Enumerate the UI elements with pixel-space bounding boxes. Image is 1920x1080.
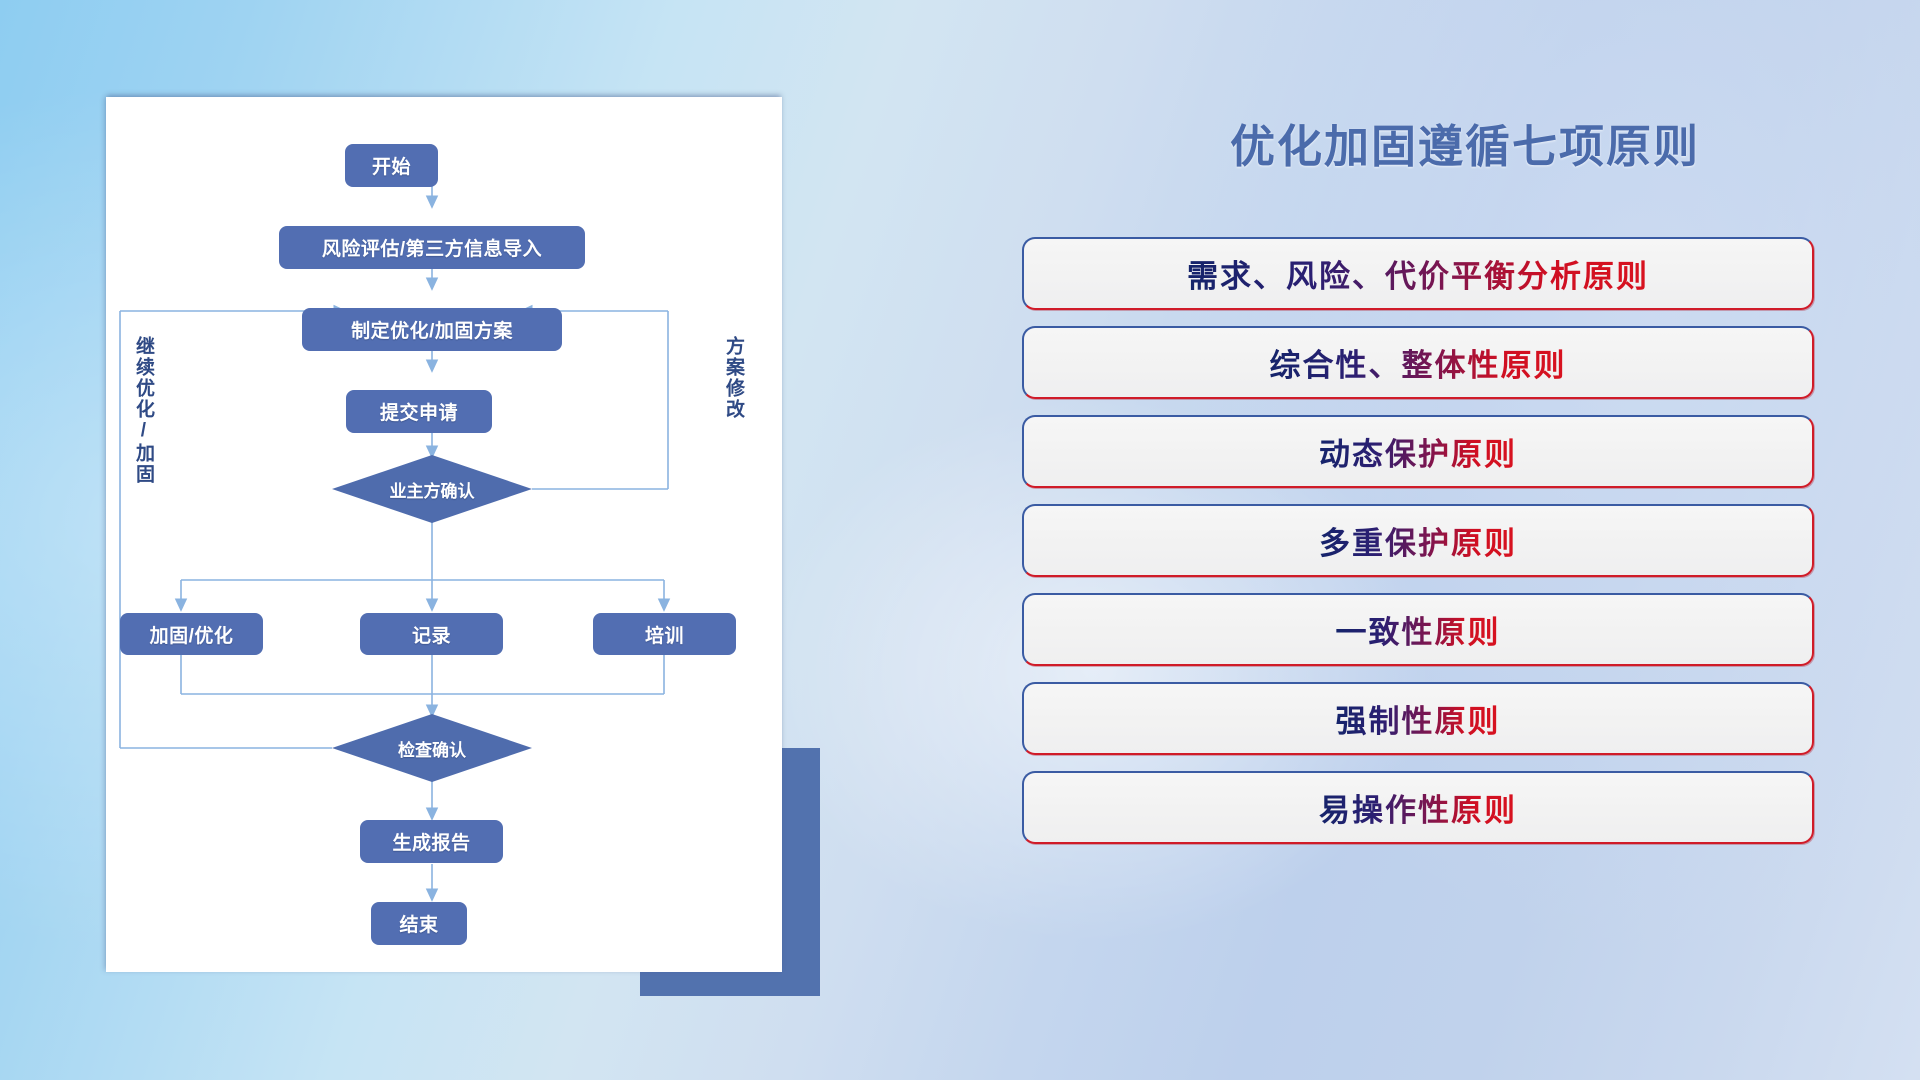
flow-node-label: 开始	[372, 152, 411, 179]
edge-label-continue-optimization: 继续优化/加固	[133, 336, 153, 506]
flow-node-label: 制定优化/加固方案	[351, 316, 513, 343]
flow-node-plan[interactable]: 制定优化/加固方案	[302, 308, 562, 351]
principle-label: 多重保护原则	[1319, 518, 1517, 563]
principle-item[interactable]: 一致性原则	[1022, 593, 1814, 666]
principle-label: 一致性原则	[1336, 607, 1501, 652]
principle-label: 需求、风险、代价平衡分析原则	[1187, 251, 1649, 296]
principle-label: 易操作性原则	[1319, 785, 1517, 830]
principles-panel: 优化加固遵循七项原则 需求、风险、代价平衡分析原则 综合性、整体性原则 动态保护…	[1010, 0, 1920, 1080]
flow-node-generate-report[interactable]: 生成报告	[360, 820, 503, 863]
flowchart-canvas: 开始 风险评估/第三方信息导入 制定优化/加固方案 提交申请 业主方确认 加固/…	[106, 97, 782, 972]
principle-label: 综合性、整体性原则	[1270, 340, 1567, 385]
flow-node-label: 培训	[645, 621, 684, 648]
flow-node-submit-application[interactable]: 提交申请	[346, 390, 492, 433]
flow-node-end[interactable]: 结束	[371, 902, 467, 945]
flow-node-label: 记录	[412, 621, 451, 648]
flow-node-inspection-confirmation[interactable]: 检查确认	[332, 714, 532, 782]
edge-label-plan-revision: 方案修改	[723, 336, 743, 466]
principle-item[interactable]: 动态保护原则	[1022, 415, 1814, 488]
principle-item[interactable]: 综合性、整体性原则	[1022, 326, 1814, 399]
principle-label: 动态保护原则	[1319, 429, 1517, 474]
flow-node-label: 加固/优化	[150, 621, 234, 648]
flow-node-risk-assessment[interactable]: 风险评估/第三方信息导入	[279, 226, 585, 269]
flow-node-label: 结束	[399, 910, 438, 937]
flowchart-panel: 开始 风险评估/第三方信息导入 制定优化/加固方案 提交申请 业主方确认 加固/…	[0, 0, 840, 1080]
flow-node-label: 生成报告	[392, 828, 470, 855]
flow-node-start[interactable]: 开始	[345, 144, 438, 187]
principle-item[interactable]: 需求、风险、代价平衡分析原则	[1022, 237, 1814, 310]
flow-node-label: 提交申请	[380, 398, 458, 425]
flow-node-label: 检查确认	[398, 736, 466, 761]
principle-item[interactable]: 易操作性原则	[1022, 771, 1814, 844]
principle-label: 强制性原则	[1336, 696, 1501, 741]
principle-item[interactable]: 强制性原则	[1022, 682, 1814, 755]
flow-node-reinforce-optimize[interactable]: 加固/优化	[120, 613, 263, 655]
flow-node-record[interactable]: 记录	[360, 613, 503, 655]
principle-item[interactable]: 多重保护原则	[1022, 504, 1814, 577]
principles-list: 需求、风险、代价平衡分析原则 综合性、整体性原则 动态保护原则 多重保护原则 一…	[1022, 237, 1814, 860]
flow-node-owner-confirmation[interactable]: 业主方确认	[332, 455, 532, 523]
flow-node-label: 风险评估/第三方信息导入	[322, 234, 542, 261]
principles-title: 优化加固遵循七项原则	[1010, 110, 1920, 175]
flowchart-card: 开始 风险评估/第三方信息导入 制定优化/加固方案 提交申请 业主方确认 加固/…	[106, 97, 782, 972]
flow-node-label: 业主方确认	[390, 477, 475, 502]
flow-node-training[interactable]: 培训	[593, 613, 736, 655]
